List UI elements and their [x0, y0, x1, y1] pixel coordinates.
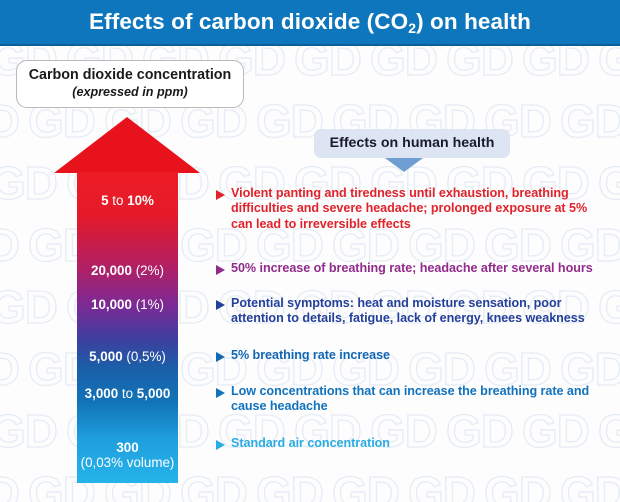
watermark-glyph: GD: [0, 94, 19, 148]
concentration-legend-subtitle: (expressed in ppm): [17, 84, 243, 100]
watermark-glyph: GD: [560, 466, 620, 502]
triangle-bullet-icon: [216, 352, 225, 362]
arrow-label-5000: 5,000 (0,5%): [77, 349, 178, 364]
infographic-root: GDGDGDGDGDGDGDGDGDGDGDGDGDGDGDGDGDGDGDGD…: [0, 0, 620, 502]
triangle-bullet-icon: [216, 300, 225, 310]
triangle-bullet-icon: [216, 388, 225, 398]
effect-text: 5% breathing rate increase: [231, 348, 612, 363]
concentration-gradient-bar: [77, 172, 178, 483]
arrow-label-3000-to-5000: 3,000 to 5,000: [77, 386, 178, 401]
arrow-label-10000: 10,000 (1%): [77, 297, 178, 312]
co2-subscript: 2: [408, 20, 416, 36]
effect-item-50-percent-breathing: 50% increase of breathing rate; headache…: [212, 261, 612, 276]
effect-item-violent-panting: Violent panting and tiredness until exha…: [212, 186, 612, 232]
watermark-glyph: GD: [0, 342, 19, 396]
page-title-before: Effects of carbon dioxide (CO: [89, 9, 408, 34]
watermark-glyph: GD: [484, 466, 551, 502]
watermark-glyph: GD: [560, 94, 620, 148]
up-arrow-head-icon: [54, 117, 200, 173]
watermark-glyph: GD: [446, 46, 513, 86]
page-title: Effects of carbon dioxide (CO2) on healt…: [0, 0, 620, 44]
arrow-label-300: 300(0,03% volume): [77, 440, 178, 470]
concentration-legend-box: Carbon dioxide concentration (expressed …: [16, 60, 244, 108]
watermark-glyph: GD: [0, 156, 57, 210]
effect-item-low-concentrations: Low concentrations that can increase the…: [212, 384, 612, 415]
effect-text: Standard air concentration: [231, 436, 612, 451]
page-title-after: ) on health: [416, 9, 531, 34]
triangle-bullet-icon: [216, 440, 225, 450]
watermark-glyph: GD: [522, 46, 589, 86]
watermark-glyph: GD: [370, 46, 437, 86]
concentration-legend-title: Carbon dioxide concentration: [17, 67, 243, 84]
triangle-bullet-icon: [216, 265, 225, 275]
effects-legend-box: Effects on human health: [314, 129, 510, 158]
effect-text: Violent panting and tiredness until exha…: [231, 186, 612, 232]
watermark-glyph: GD: [332, 466, 399, 502]
triangle-bullet-icon: [216, 190, 225, 200]
arrow-label-5-to-10-percent: 5 to 10%: [77, 193, 178, 208]
effect-item-potential-symptoms: Potential symptoms: heat and moisture se…: [212, 296, 612, 327]
effect-item-standard-air: Standard air concentration: [212, 436, 612, 451]
arrow-label-20000: 20,000 (2%): [77, 263, 178, 278]
effects-legend-caret-icon: [385, 158, 423, 172]
watermark-glyph: GD: [0, 466, 19, 502]
watermark-glyph: GD: [256, 94, 323, 148]
watermark-glyph: GD: [180, 466, 247, 502]
watermark-glyph: GD: [0, 404, 57, 458]
effect-text: 50% increase of breathing rate; headache…: [231, 261, 612, 276]
effect-item-5-percent-breathing: 5% breathing rate increase: [212, 348, 612, 363]
watermark-glyph: GD: [0, 280, 57, 334]
watermark-glyph: GD: [0, 218, 19, 272]
watermark-glyph: GD: [294, 46, 361, 86]
effect-text: Potential symptoms: heat and moisture se…: [231, 296, 612, 327]
effect-text: Low concentrations that can increase the…: [231, 384, 612, 415]
watermark-glyph: GD: [598, 46, 620, 86]
watermark-glyph: GD: [256, 466, 323, 502]
watermark-glyph: GD: [408, 466, 475, 502]
